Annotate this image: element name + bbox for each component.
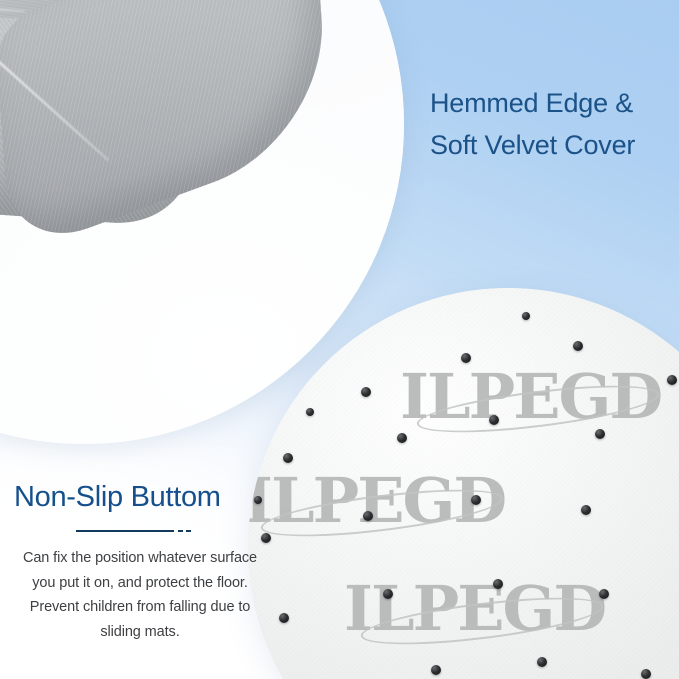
mat-dot — [644, 314, 652, 322]
mat-dot — [383, 589, 393, 599]
feature-bottom-heading: Non-Slip Buttom — [14, 478, 266, 516]
feature-bottom-body: Can fix the position whatever surface yo… — [14, 546, 266, 644]
mat-dot — [279, 613, 289, 623]
mat-dot — [493, 579, 503, 589]
mat-dot — [361, 387, 371, 397]
feature-top-heading: Hemmed Edge & Soft Velvet Cover — [430, 82, 679, 166]
mat-dot — [573, 341, 583, 351]
mat-dot — [397, 433, 407, 443]
product-infographic: ILPEGD ILPEGD ILPEGD Hemmed Edge & Soft … — [0, 0, 679, 679]
mat-dot — [667, 375, 677, 385]
mat-dot — [595, 429, 605, 439]
mat-dot — [306, 408, 314, 416]
mat-dot — [537, 657, 547, 667]
mat-dot — [599, 589, 609, 599]
mat-dot — [581, 505, 591, 515]
mat-dot — [471, 495, 481, 505]
divider-dash-icon — [186, 530, 191, 532]
mat-dot — [641, 669, 651, 679]
feature-top-heading-line2: Soft Velvet Cover — [430, 124, 679, 166]
divider-line — [76, 530, 174, 532]
feature-top-heading-line1: Hemmed Edge & — [430, 88, 633, 118]
brand-watermark: ILPEGD — [344, 572, 605, 645]
mat-dot — [522, 312, 530, 320]
mat-dot — [283, 453, 293, 463]
mat-dot — [363, 511, 373, 521]
feature-bottom-block: Non-Slip Buttom Can fix the position wha… — [14, 478, 266, 644]
mat-dot — [461, 353, 471, 363]
brand-watermark: ILPEGD — [248, 464, 505, 537]
mat-dot — [431, 665, 441, 675]
brand-watermark: ILPEGD — [400, 360, 661, 433]
divider — [76, 522, 266, 540]
non-slip-mat-photo-circle: ILPEGD ILPEGD ILPEGD — [248, 288, 679, 679]
mat-dot — [489, 415, 499, 425]
divider-dash-icon — [178, 530, 183, 532]
